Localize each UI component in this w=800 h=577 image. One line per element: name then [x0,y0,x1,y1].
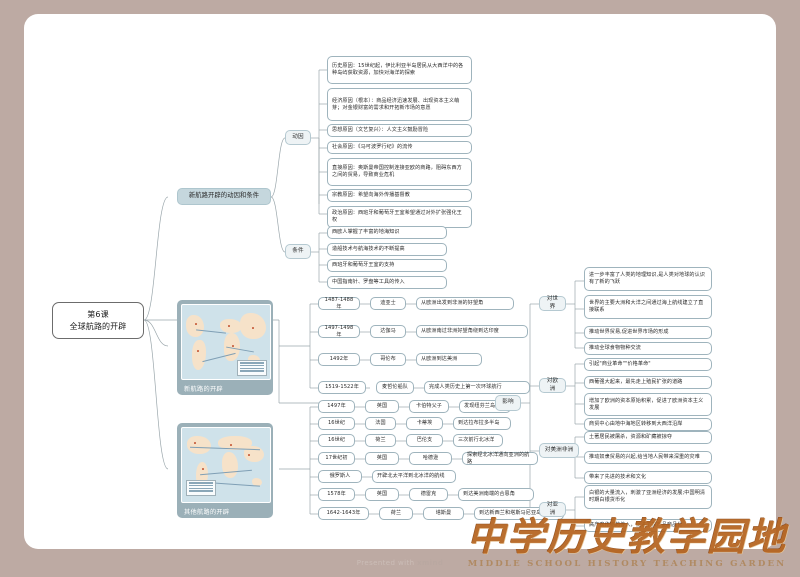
other-row-5-time[interactable]: 俄罗斯人 [318,470,362,483]
image-node-new-routes[interactable]: 新航路的开辟 [177,300,273,395]
branch-causes-and-conditions[interactable]: 新航路开辟的动因和条件 [177,188,271,205]
impact-group-asia[interactable]: 对亚洲 [539,502,566,517]
other-row-7-country[interactable]: 荷兰 [379,507,413,520]
other-row-2-desc[interactable]: 到达拉布拉多半岛 [453,417,511,430]
impact-america-africa-item-3[interactable]: 带来了先进的技术和文化 [584,471,712,484]
impact-world-item-4[interactable]: 推动全球食物物种交流 [584,342,712,355]
voyage-row-1-desc[interactable]: 从欧洲出发到非洲的好望角 [416,297,514,310]
motivation-item-economic[interactable]: 经济原因（根本）：商品经济迅速发展、出现资本主义萌芽；对金银财富的需求和开拓新市… [327,88,472,121]
map-new-routes [181,304,271,380]
voyage-row-3-desc[interactable]: 从欧洲到达美洲 [416,353,482,366]
other-row-3-time[interactable]: 16世纪 [318,434,355,447]
impact-europe-item-2[interactable]: 西葡强大起来，最先走上殖民扩张的道路 [584,376,712,389]
motivation-item-political[interactable]: 政治原因：西班牙和葡萄牙王室希望通过对外扩张强化王权 [327,206,472,228]
other-row-7-person[interactable]: 塔斯曼 [423,507,464,520]
group-motivations[interactable]: 动因 [285,130,311,145]
mindmap-screenshot: 第6课 全球航路的开辟 新航路开辟的动因和条件 动因 历史原因：15世纪起，伊比… [0,0,800,577]
other-row-7-time[interactable]: 1642-1643年 [318,507,369,520]
voyage-row-4-desc[interactable]: 完成人类历史上第一次环球航行 [424,381,530,394]
map-legend [237,360,267,376]
motivation-item-social[interactable]: 社会原因：《马可波罗行纪》的流传 [327,141,472,154]
voyage-row-1-time[interactable]: 1487-1488年 [318,297,360,310]
voyage-row-4-time[interactable]: 1519-1522年 [318,381,366,394]
image-node-other-routes[interactable]: 其他航路的开辟 [177,423,273,518]
other-row-3-person[interactable]: 巴伦支 [406,434,443,447]
impact-world-item-3[interactable]: 推动世界贸易,促进世界市场的形成 [584,326,712,339]
other-row-4-person[interactable]: 哈德逊 [409,452,452,465]
impact-asia-item-1[interactable]: 白银的大量流入，刺激了亚洲经济的发展;中国明清时期白银货币化 [584,485,712,509]
other-row-2-country[interactable]: 法国 [365,417,396,430]
other-row-1-country[interactable]: 英国 [365,400,399,413]
impact-group-america-africa[interactable]: 对美洲非洲 [539,443,579,458]
mindmap-card: 第6课 全球航路的开辟 新航路开辟的动因和条件 动因 历史原因：15世纪起，伊比… [24,14,776,549]
impact-europe-item-4[interactable]: 商贸中心由地中海地区转移到大西洋沿岸 [584,418,712,431]
voyage-row-2-time[interactable]: 1497-1498年 [318,325,360,338]
condition-item-technology[interactable]: 造船技术与航海技术的不断提高 [327,243,447,256]
xmind-footer: Presented with xmind [0,559,800,567]
other-row-4-desc[interactable]: 探索经北冰洋通向亚洲的航路 [462,452,538,465]
motivation-item-religious[interactable]: 宗教原因：希望向海外传播基督教 [327,189,472,202]
voyage-row-3-person[interactable]: 哥伦布 [370,353,406,366]
voyage-row-2-person[interactable]: 达伽马 [370,325,406,338]
other-row-6-time[interactable]: 1578年 [318,488,355,501]
impact-europe-item-3[interactable]: 增加了欧洲的资本原始积累，促进了欧洲资本主义发展 [584,393,712,416]
impact-world-item-1[interactable]: 进一步丰富了人类的地理知识,是人类对地球的认识有了新的飞跃 [584,267,712,291]
impact-group-europe[interactable]: 对欧洲 [539,378,566,393]
impact-asia-item-2[interactable]: 高产农作物的传入，促进了农产品商品化 [584,519,712,532]
footer-prefix: Presented with [357,559,417,567]
other-row-2-time[interactable]: 16世纪 [318,417,355,430]
condition-item-royal-support[interactable]: 西班牙和葡萄牙王室的支持 [327,259,447,272]
motivation-item-direct[interactable]: 直接原因：奥斯曼帝国控制连接亚欧的商路，阻碍东西方之间的贸易，导致商业危机 [327,158,472,186]
motivation-item-ideological[interactable]: 思想原因（文艺复兴）：人文主义鼓励冒险 [327,124,472,137]
other-row-1-time[interactable]: 1497年 [318,400,355,413]
branch-impact[interactable]: 影响 [495,395,521,411]
other-row-6-person[interactable]: 德雷克 [409,488,448,501]
other-row-4-country[interactable]: 英国 [365,452,399,465]
voyage-row-2-desc[interactable]: 从欧洲南过非洲好望角绕到达印度 [416,325,528,338]
voyage-row-4-person[interactable]: 麦哲伦船队 [376,381,414,394]
voyage-row-3-time[interactable]: 1492年 [318,353,360,366]
impact-europe-item-1[interactable]: 引起"商业革命""价格革命" [584,358,712,371]
other-row-4-time[interactable]: 17世纪初 [318,452,355,465]
other-row-1-person[interactable]: 卡伯特父子 [409,400,449,413]
group-conditions[interactable]: 条件 [285,244,311,259]
other-row-3-desc[interactable]: 三次前行北冰洋 [453,434,503,447]
other-row-2-person[interactable]: 卡蒂埃 [406,417,443,430]
image-caption-new-routes: 新航路的开辟 [181,380,269,397]
impact-group-world[interactable]: 对世界 [539,296,566,311]
other-row-6-country[interactable]: 英国 [365,488,399,501]
map-legend-other [186,480,216,496]
condition-item-knowledge[interactable]: 西欧人掌握了丰富的地海知识 [327,226,447,239]
footer-brand: xmind [417,559,443,567]
central-topic-line1: 第6课 [87,309,108,321]
voyage-row-1-person[interactable]: 迪亚士 [370,297,406,310]
mindmap-canvas[interactable]: 第6课 全球航路的开辟 新航路开辟的动因和条件 动因 历史原因：15世纪起，伊比… [24,14,776,549]
map-other-routes [181,427,271,503]
central-topic[interactable]: 第6课 全球航路的开辟 [52,302,144,339]
other-row-6-desc[interactable]: 到达美洲南端的合恩角 [458,488,534,501]
condition-item-compass[interactable]: 中国指南针、罗盘等工具的传入 [327,276,447,289]
other-row-3-country[interactable]: 荷兰 [365,434,396,447]
motivation-item-historical[interactable]: 历史原因：15世纪起，伊比利亚半岛居民从大西洋中的各种岛屿获取资源，加快对海洋的… [327,56,472,84]
central-topic-line2: 全球航路的开辟 [70,321,127,333]
image-caption-other-routes: 其他航路的开辟 [181,503,269,520]
impact-america-africa-item-2[interactable]: 推动奴隶贸易的兴起,给当地人民带来深重的灾难 [584,451,712,464]
impact-america-africa-item-1[interactable]: 土著居民被屠杀，资源和矿藏被掠夺 [584,431,712,444]
other-row-5-desc[interactable]: 开辟北太平洋到北冰洋的航线 [372,470,456,483]
impact-world-item-2[interactable]: 世界的主要大洲和大洋之间通过海上航线建立了直接联系 [584,295,712,319]
